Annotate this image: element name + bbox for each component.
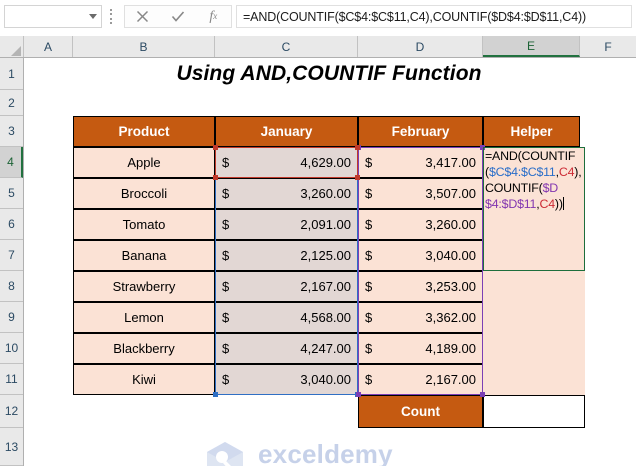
cell-value: 3,040.00 [425,248,476,263]
column-header-b[interactable]: B [73,36,215,57]
column-header-c[interactable]: C [215,36,358,57]
cell-value: 3,417.00 [425,155,476,170]
cell-value: 4,247.00 [300,341,351,356]
formula-segment: )) [555,197,563,211]
currency-symbol: $ [365,217,372,232]
cell-value: 2,091.00 [300,217,351,232]
table-row[interactable]: $ 3,417.00 [358,147,483,178]
cell-value: 2,167.00 [425,372,476,387]
currency-symbol: $ [222,310,229,325]
formula-bar-grip[interactable] [110,9,114,24]
helper-formula-editor[interactable]: =AND(COUNTIF($C$4:$C$11,C4),COUNTIF($D$4… [483,147,585,271]
table-row[interactable]: $ 3,260.00 [215,178,358,209]
row-header-11[interactable]: 11 [0,364,23,395]
cell-value: 3,040.00 [300,372,351,387]
table-row[interactable]: $ 4,629.00 [215,147,358,178]
row-header-10[interactable]: 10 [0,333,23,364]
table-row[interactable]: Tomato [73,209,215,240]
currency-symbol: $ [365,186,372,201]
table-header-product[interactable]: Product [73,116,215,147]
formula-ref-c4: C4 [559,165,574,179]
column-header-a[interactable]: A [24,36,73,57]
count-label-cell[interactable]: Count [358,395,483,428]
sheet-cells: Using AND,COUNTIF Function Product Janua… [24,58,636,466]
currency-symbol: $ [365,155,372,170]
cell-value: 3,260.00 [300,186,351,201]
currency-symbol: $ [365,341,372,356]
table-header-helper[interactable]: Helper [483,116,580,147]
currency-symbol: $ [222,217,229,232]
table-row[interactable]: Banana [73,240,215,271]
cell-value: 3,362.00 [425,310,476,325]
table-row[interactable]: $ 3,362.00 [358,302,483,333]
select-all-icon [11,46,21,56]
currency-symbol: $ [222,186,229,201]
table-row[interactable]: $ 3,040.00 [215,364,358,395]
formula-ref-c4-second: C4 [539,197,554,211]
table-row[interactable]: Blackberry [73,333,215,364]
table-row[interactable]: $ 3,507.00 [358,178,483,209]
cell-value: 4,568.00 [300,310,351,325]
text-caret [563,197,564,210]
cancel-icon[interactable] [128,6,158,27]
currency-symbol: $ [365,310,372,325]
column-header-row: A B C D E F [0,36,636,58]
helper-empty-cell[interactable] [483,302,585,333]
table-row[interactable]: $ 4,568.00 [215,302,358,333]
table-row[interactable]: $ 2,167.00 [215,271,358,302]
watermark-name: exceldemy [258,439,393,466]
helper-empty-cell[interactable] [483,333,585,364]
table-row[interactable]: Apple [73,147,215,178]
page-title[interactable]: Using AND,COUNTIF Function [73,58,585,90]
formula-bar: fx =AND(COUNTIF($C$4:$C$11,C4),COUNTIF($… [0,0,636,36]
column-header-f[interactable]: F [580,36,636,57]
cell-value: 3,260.00 [425,217,476,232]
row-header-1[interactable]: 1 [0,58,23,90]
row-header-12[interactable]: 12 [0,395,23,428]
currency-symbol: $ [365,372,372,387]
row-header-8[interactable]: 8 [0,271,23,302]
table-header-february[interactable]: February [358,116,483,147]
table-row[interactable]: $ 4,189.00 [358,333,483,364]
column-header-d[interactable]: D [358,36,483,57]
currency-symbol: $ [222,372,229,387]
count-value-cell[interactable] [483,395,585,428]
row-header-column: 1 2 3 4 5 6 7 8 9 10 11 12 13 [0,58,24,466]
currency-symbol: $ [222,248,229,263]
table-row[interactable]: Kiwi [73,364,215,395]
row-header-6[interactable]: 6 [0,209,23,240]
column-header-e[interactable]: E [483,36,580,57]
spreadsheet-grid: A B C D E F 1 2 3 4 5 6 7 8 9 10 11 12 1… [0,36,636,466]
table-header-january[interactable]: January [215,116,358,147]
cell-value: 3,507.00 [425,186,476,201]
currency-symbol: $ [222,341,229,356]
currency-symbol: $ [222,279,229,294]
helper-empty-cell[interactable] [483,364,585,395]
select-all-corner[interactable] [0,36,24,57]
formula-ref-c-range: $C$4:$C$11 [489,165,556,179]
formula-input[interactable]: =AND(COUNTIF($C$4:$C$11,C4),COUNTIF($D$4… [236,5,632,28]
row-header-9[interactable]: 9 [0,302,23,333]
row-header-13[interactable]: 13 [0,428,23,466]
table-row[interactable]: $ 3,260.00 [358,209,483,240]
table-row[interactable]: $ 3,253.00 [358,271,483,302]
row-header-5[interactable]: 5 [0,178,23,209]
cell-value: 4,629.00 [300,155,351,170]
table-row[interactable]: $ 4,247.00 [215,333,358,364]
row-header-2[interactable]: 2 [0,90,23,116]
table-row[interactable]: Lemon [73,302,215,333]
confirm-icon[interactable] [163,6,193,27]
formula-bar-buttons: fx [124,5,232,28]
exceldemy-watermark: exceldemy EXCEL · DATA · BI [202,437,422,466]
currency-symbol: $ [222,155,229,170]
insert-function-icon[interactable]: fx [198,6,228,27]
watermark-logo-icon [202,439,248,466]
chevron-down-icon[interactable] [85,14,101,19]
table-row[interactable]: $ 3,040.00 [358,240,483,271]
helper-empty-cell[interactable] [483,271,585,302]
row-header-3[interactable]: 3 [0,116,23,147]
cell-value: 3,253.00 [425,279,476,294]
table-row[interactable]: $ 2,125.00 [215,240,358,271]
cell-value: 2,167.00 [300,279,351,294]
currency-symbol: $ [365,279,372,294]
name-box[interactable] [4,5,102,28]
table-row[interactable]: $ 2,091.00 [215,209,358,240]
row-header-7[interactable]: 7 [0,240,23,271]
cell-value: 4,189.00 [425,341,476,356]
cell-value: 2,125.00 [300,248,351,263]
table-row[interactable]: Strawberry [73,271,215,302]
table-row[interactable]: $ 2,167.00 [358,364,483,395]
table-row[interactable]: Broccoli [73,178,215,209]
currency-symbol: $ [365,248,372,263]
row-header-4[interactable]: 4 [0,147,23,178]
